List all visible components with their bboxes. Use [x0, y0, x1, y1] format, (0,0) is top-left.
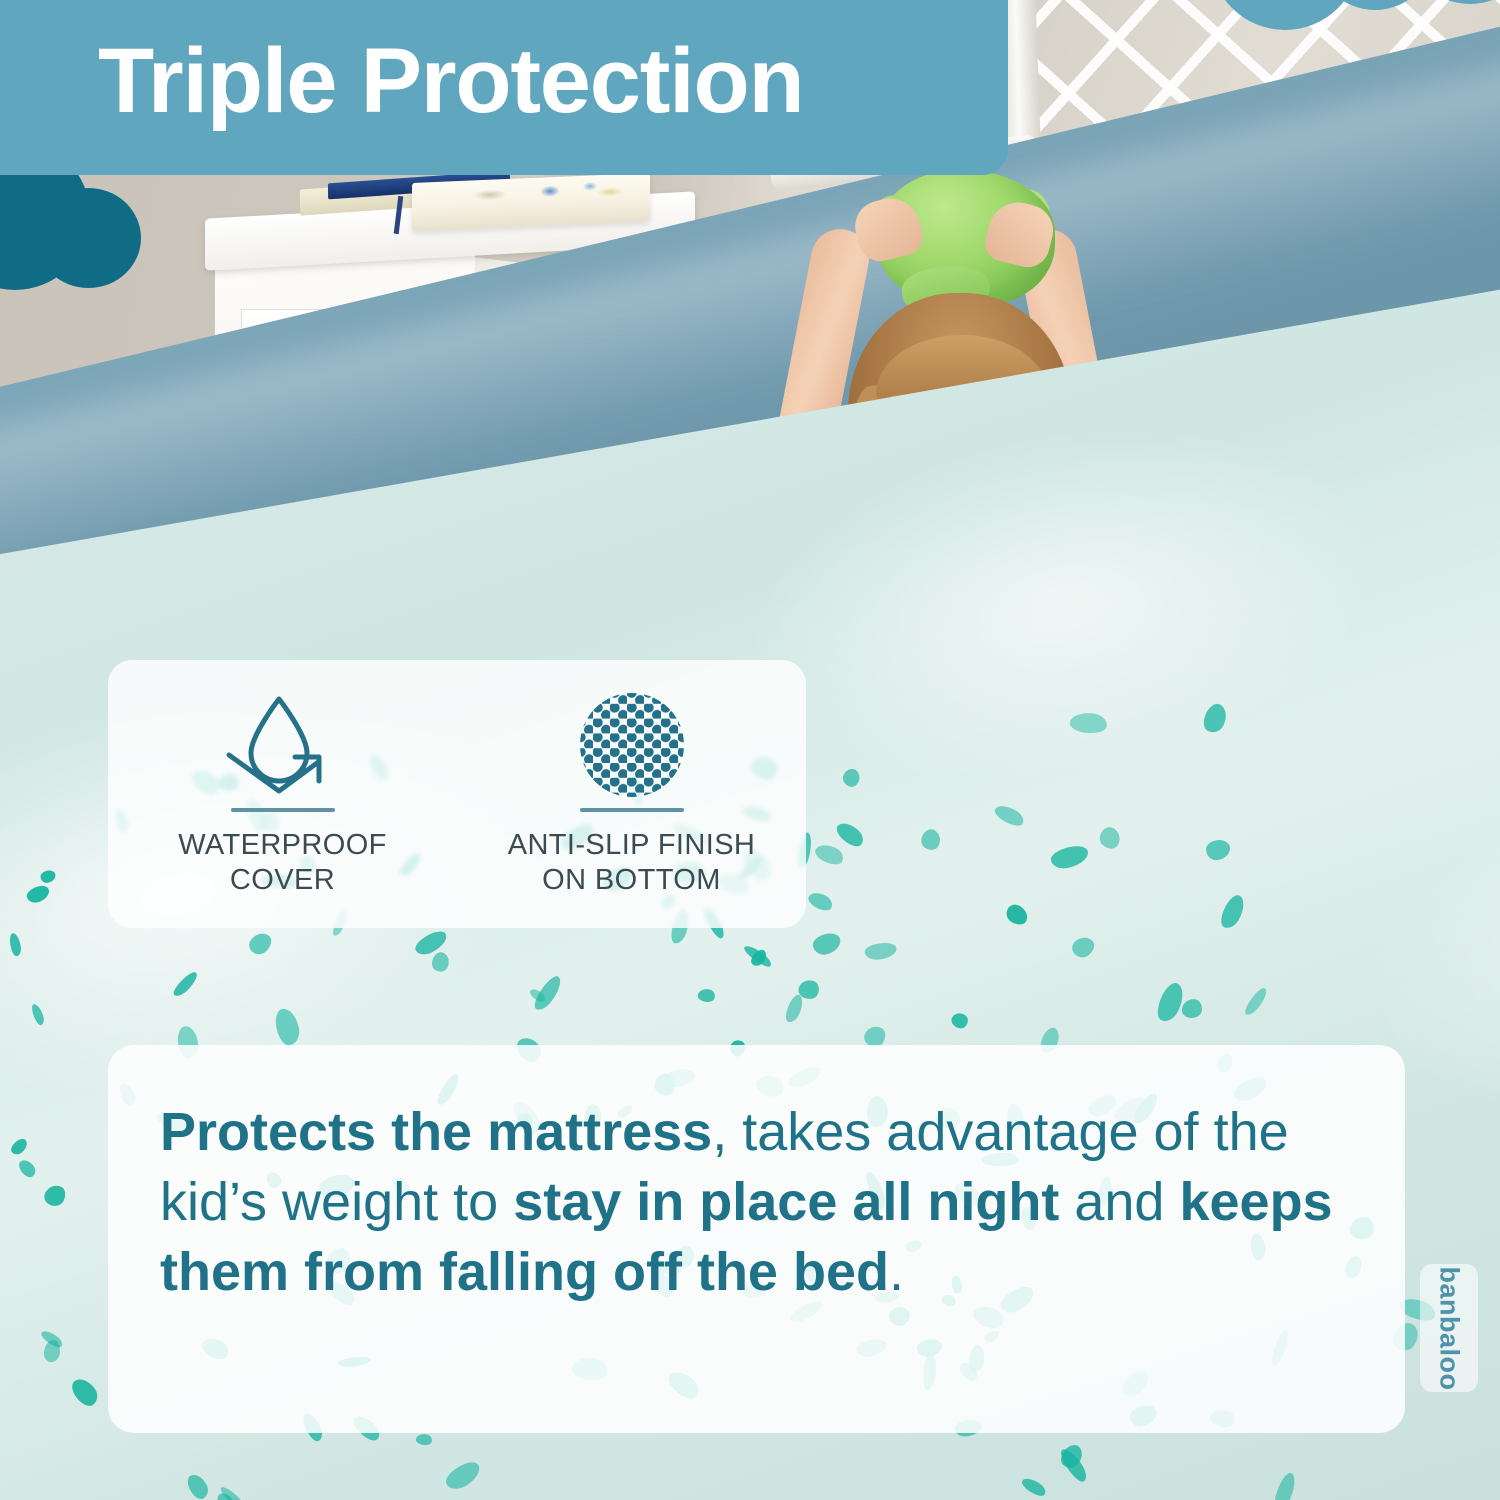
duvet-speckle — [812, 932, 843, 957]
feature-label-line2: ON BOTTOM — [508, 863, 756, 898]
duvet-speckle — [1050, 843, 1091, 871]
duvet-speckle — [783, 993, 807, 1025]
duvet-speckle — [30, 1003, 46, 1027]
duvet-speckle — [697, 987, 717, 1003]
duvet-speckle — [806, 889, 835, 914]
feature-divider-rule — [231, 808, 335, 812]
duvet-speckle — [1200, 700, 1232, 735]
duvet-speckle — [1181, 998, 1203, 1019]
duvet-speckle — [40, 870, 56, 884]
duvet-speckle — [10, 933, 23, 957]
duvet-speckle — [1270, 1470, 1299, 1500]
duvet-speckle — [1216, 892, 1249, 932]
dotted-circle-grip-icon — [576, 690, 688, 800]
page-title: Triple Protection — [98, 29, 804, 134]
brand-logo-text: banbaloo — [1434, 1266, 1465, 1390]
feature-divider-rule — [580, 808, 684, 812]
description-text: Protects the mattress, takes advantage o… — [160, 1097, 1349, 1308]
duvet-speckle — [171, 969, 201, 999]
description-panel: Protects the mattress, takes advantage o… — [108, 1045, 1405, 1433]
duvet-speckle — [1242, 986, 1270, 1018]
duvet-speckle — [25, 884, 51, 905]
duvet-speckle — [429, 950, 452, 975]
feature-badges-panel: WATERPROOF COVER — [108, 660, 806, 928]
feature-label-line1: ANTI-SLIP FINISH — [508, 828, 756, 863]
feature-waterproof-cover: WATERPROOF COVER — [108, 690, 457, 899]
duvet-speckle — [1004, 902, 1032, 928]
duvet-speckle — [43, 1340, 60, 1363]
duvet-speckle — [840, 766, 864, 790]
duvet-speckle — [17, 1157, 38, 1180]
duvet-speckle — [1096, 824, 1125, 853]
duvet-speckle — [273, 1007, 301, 1047]
feature-label-line1: WATERPROOF — [178, 828, 387, 863]
feature-label-line2: COVER — [178, 863, 387, 898]
duvet-speckle — [8, 1137, 30, 1158]
water-drop-repel-icon — [217, 690, 349, 800]
duvet-speckle — [813, 841, 847, 869]
duvet-speckle — [41, 1182, 68, 1209]
cloud-shape-top-right — [1210, 0, 1500, 60]
duvet-speckle — [68, 1374, 102, 1410]
duvet-speckle — [1020, 1475, 1048, 1499]
duvet-speckle — [1206, 840, 1231, 861]
duvet-speckle — [833, 818, 867, 851]
duvet-speckle — [917, 826, 944, 853]
duvet-speckle — [949, 1010, 970, 1031]
feature-label: ANTI-SLIP FINISH ON BOTTOM — [508, 828, 756, 899]
feature-label: WATERPROOF COVER — [178, 828, 387, 899]
duvet-speckle — [1069, 711, 1108, 735]
duvet-speckle — [442, 1458, 484, 1493]
product-infographic: Triple Protection WATERPROOF COVER — [0, 0, 1500, 1500]
duvet-speckle — [992, 801, 1026, 829]
duvet-speckle — [246, 928, 275, 957]
brand-logo-tab: banbaloo — [1420, 1264, 1478, 1392]
feature-anti-slip-finish: ANTI-SLIP FINISH ON BOTTOM — [457, 690, 806, 899]
duvet-speckle — [1069, 933, 1098, 961]
duvet-speckle — [415, 1433, 433, 1447]
title-banner: Triple Protection — [0, 0, 1008, 175]
duvet-speckle — [864, 942, 897, 961]
duvet-speckle — [184, 1471, 211, 1500]
